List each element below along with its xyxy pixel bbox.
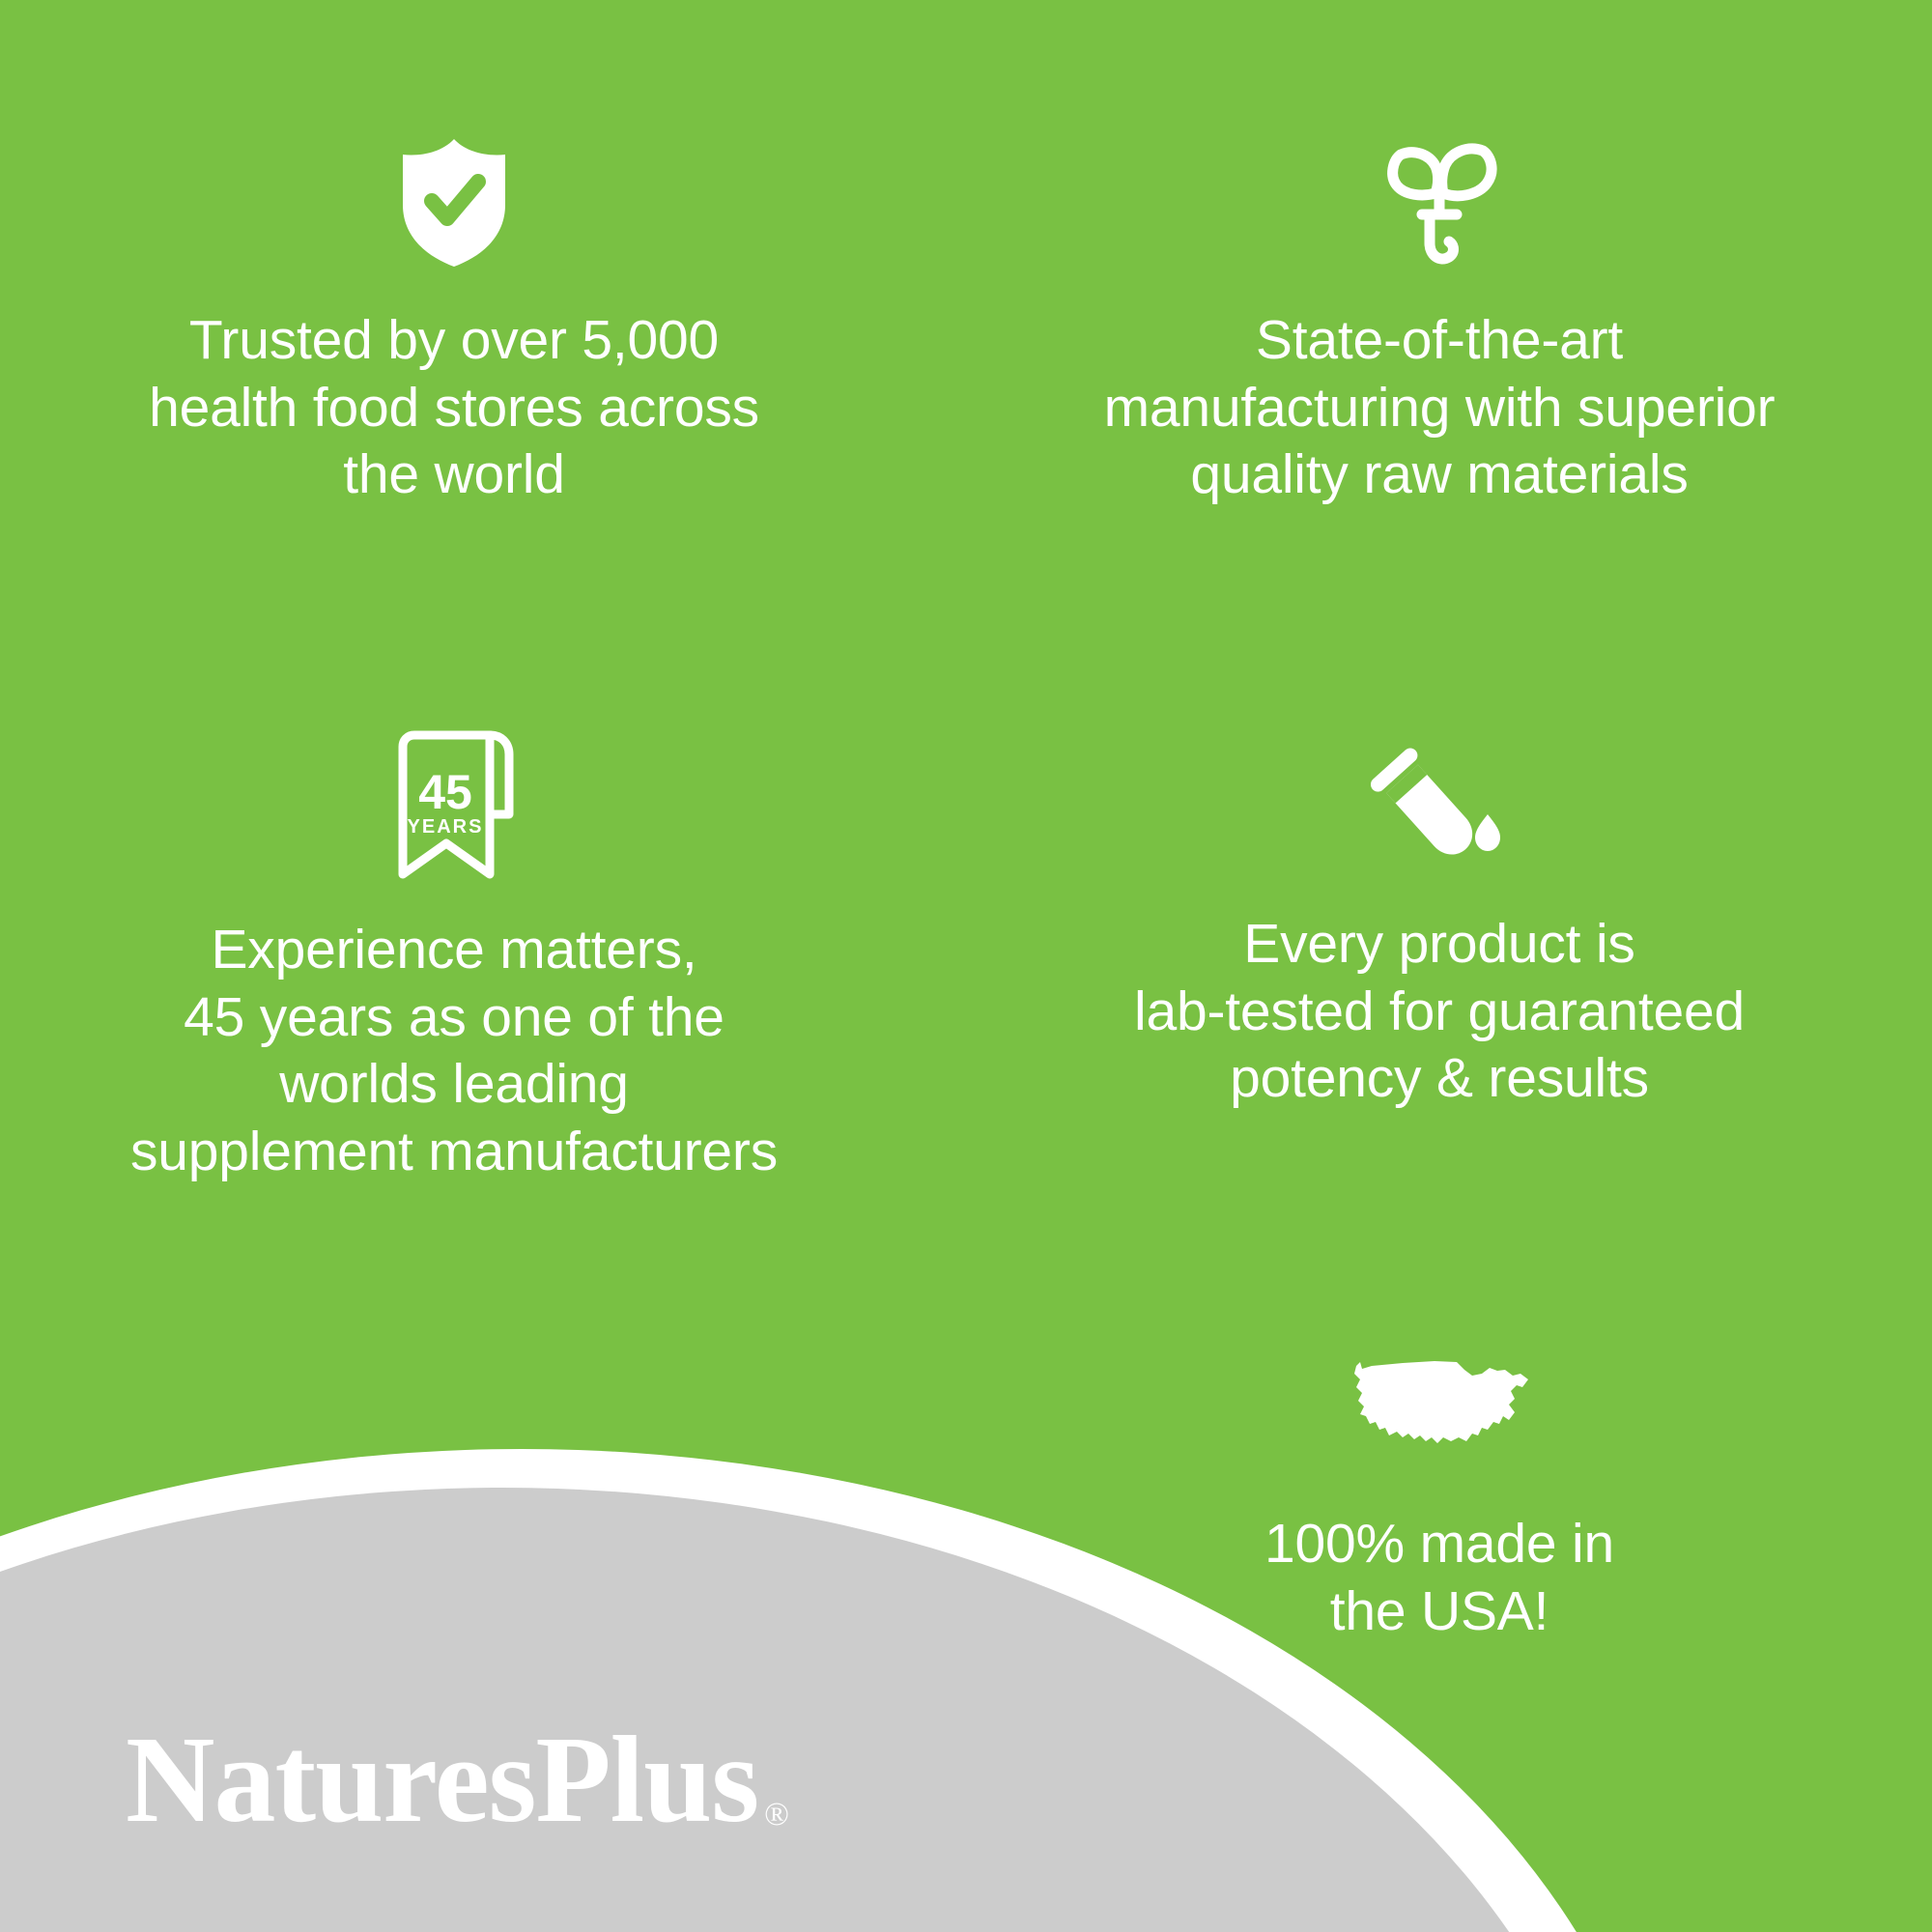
naturesplus-logo: NaturesPlus ® (126, 1718, 789, 1841)
registered-trademark-symbol: ® (764, 1799, 789, 1832)
feature-made-in-usa: 100% made in the USA! (985, 1352, 1893, 1645)
feature-caption: State-of-the-art manufacturing with supe… (1104, 307, 1776, 509)
shield-check-icon (391, 135, 517, 270)
feature-caption: Every product is lab-tested for guarante… (1134, 911, 1745, 1113)
feature-caption: Trusted by over 5,000 health food stores… (149, 307, 759, 509)
feature-state-of-the-art: State-of-the-art manufacturing with supe… (985, 135, 1893, 509)
45-years-badge-icon: 45 YEARS (382, 729, 526, 884)
sprout-in-beaker-icon (1372, 135, 1507, 270)
feature-grid: Trusted by over 5,000 health food stores… (0, 0, 1932, 1932)
badge-number: 45 (418, 765, 472, 819)
usa-map-icon (1343, 1352, 1536, 1468)
test-tube-drop-icon (1367, 739, 1512, 874)
badge-label: YEARS (408, 816, 484, 838)
logo-wordmark: NaturesPlus (126, 1718, 758, 1841)
promo-graphic: Trusted by over 5,000 health food stores… (0, 0, 1932, 1932)
feature-caption: 100% made in the USA! (1264, 1511, 1614, 1645)
feature-experience: 45 YEARS Experience matters, 45 years as… (58, 729, 850, 1185)
feature-caption: Experience matters, 45 years as one of t… (130, 917, 778, 1185)
feature-trusted: Trusted by over 5,000 health food stores… (58, 135, 850, 509)
feature-lab-tested: Every product is lab-tested for guarante… (985, 739, 1893, 1113)
